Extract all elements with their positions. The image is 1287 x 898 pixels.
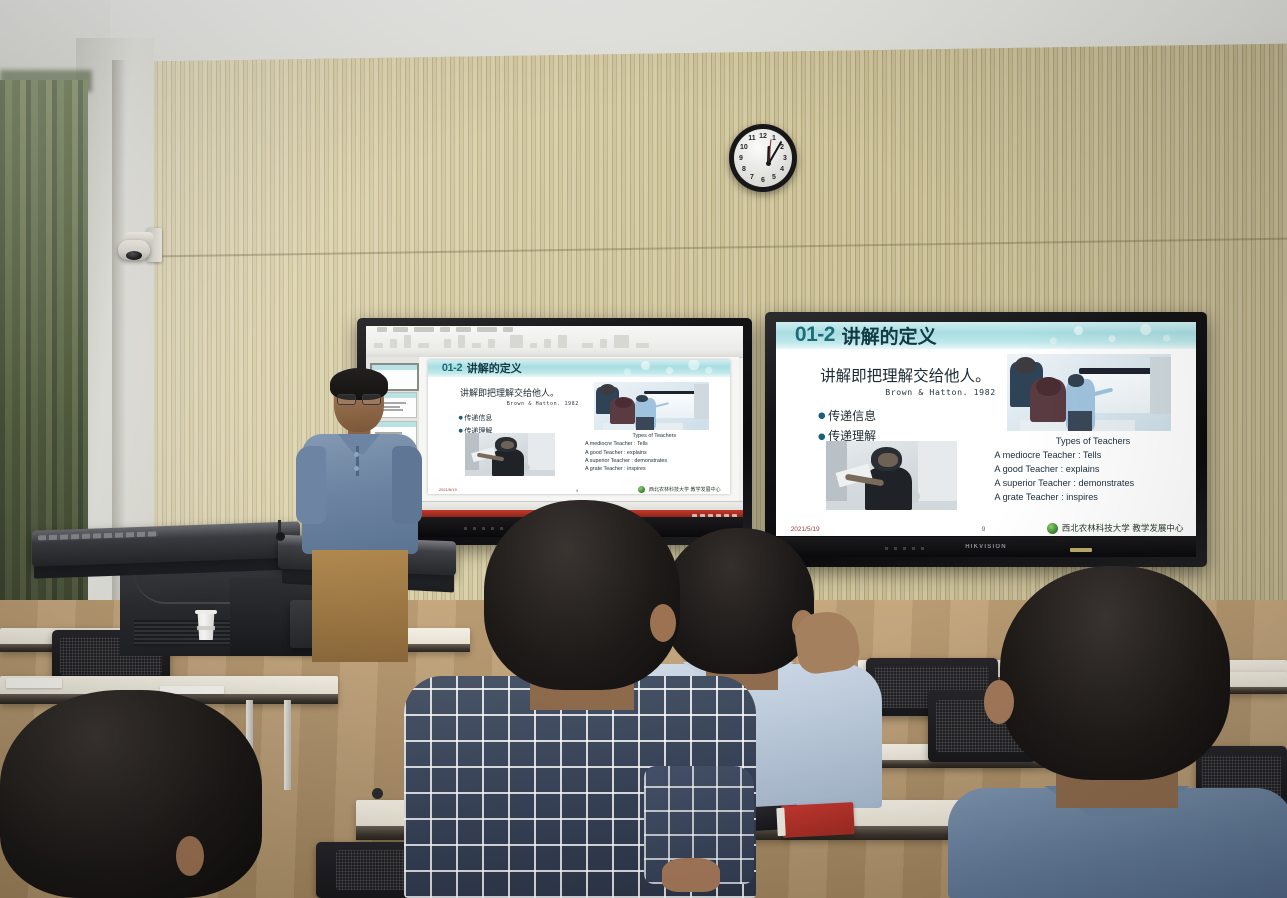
slide-types-title: Types of Teachers [585,432,724,440]
clock-face: 121234567891011 [734,129,792,187]
clock-numeral: 5 [768,174,780,181]
ribbon-command-button[interactable] [390,339,397,348]
slide-bullet-1: 传递信息 [458,413,492,423]
glasses-right-lens [362,394,381,405]
slide-header-band: 01-2 讲解的定义 [776,322,1196,349]
camera-dome [118,240,150,260]
photo-presenter-legs [1068,411,1093,431]
display-power-led [1070,548,1092,552]
wall-clock: 121234567891011 [729,124,797,192]
slide-footer-date: 2021/5/19 [439,487,457,492]
university-logo-icon [1047,523,1058,534]
right-display-brand-label: HIKVISION [965,544,1006,550]
ribbon-command-button[interactable] [472,343,481,348]
ribbon-command-button[interactable] [444,339,451,348]
slide-edit-canvas[interactable]: 01-2 讲解的定义 讲解即把理解交给他人。 Brown & Hatton. 1… [419,357,739,502]
lectern-vent-grille [134,620,234,646]
ribbon-command-button[interactable] [614,335,629,348]
slide-types-line: A grate Teacher : inspires [994,491,1191,505]
clock-numeral: 9 [735,155,747,162]
ribbon-tab[interactable] [456,327,471,332]
presenter-shirt-button [354,466,359,471]
slide-header-title: 讲解的定义 [467,360,522,376]
slide-photo-reading [826,441,956,510]
slide-types-line: A superior Teacher : demonstrates [994,477,1191,491]
audience-blue-ear [984,680,1014,724]
audience-check-head [484,500,680,690]
clock-numeral: 7 [746,174,758,181]
clock-numeral: 11 [746,135,758,142]
slide-body: 讲解即把理解交给他人。 Brown & Hatton. 1982 传递信息 传递… [428,377,729,495]
ribbon-tab[interactable] [477,327,497,332]
ribbon-command-button[interactable] [458,335,465,348]
slide-right-copy: 01-2 讲解的定义 讲解即把理解交给他人。 Brown & Hatton. 1… [776,322,1196,536]
ribbon-command-button[interactable] [418,343,429,348]
slide-header-number: 01-2 [428,362,462,374]
classroom-scene: 121234567891011 [0,0,1287,898]
slide-types-line: A good Teacher : explains [585,449,724,457]
slide-types-line: A superior Teacher : demonstrates [585,457,724,465]
ribbon-command-button[interactable] [558,335,567,348]
photo-reader-body [865,467,912,510]
clock-numeral: 10 [738,144,750,151]
slide-footer-logo: 西北农林科技大学 教学发展中心 [1047,522,1184,534]
ribbon-command-groups[interactable] [374,335,736,348]
photo-listener-two-head [1036,377,1061,395]
audience-blue-head [1000,566,1230,780]
left-display-screen[interactable]: 01-2 讲解的定义 讲解即把理解交给他人。 Brown & Hatton. 1… [366,326,743,519]
clock-center-pin [766,161,771,166]
clock-numeral: 6 [757,177,769,184]
ribbon-command-button[interactable] [530,343,537,348]
ribbon-command-button[interactable] [544,339,551,348]
audience-member-front-left [0,690,272,898]
slide-footer-logo: 西北农林科技大学 教学发展中心 [638,486,721,493]
ribbon-tab[interactable] [393,327,408,332]
slide-types-block: Types of Teachers A mediocre Teacher : T… [994,435,1191,505]
photo-presenter-head [1068,374,1084,386]
slide-main-line: 讲解即把理解交给他人。 [820,364,991,386]
slide-types-line: A mediocre Teacher : Tells [585,440,724,448]
photo-right-background [918,441,957,510]
ribbon-tab[interactable] [414,327,434,332]
camera-lens-icon [126,251,142,260]
audience-check-ear [650,604,676,642]
slide-footer-page: 9 [576,488,578,493]
right-display-screen[interactable]: 01-2 讲解的定义 讲解即把理解交给他人。 Brown & Hatton. 1… [776,322,1196,536]
slide-footer-page: 9 [982,526,986,533]
slide-header-title: 讲解的定义 [842,322,937,349]
dome-security-camera [118,226,162,270]
powerpoint-window[interactable]: 01-2 讲解的定义 讲解即把理解交给他人。 Brown & Hatton. 1… [366,326,743,519]
slide-citation: Brown & Hatton. 1982 [507,401,579,407]
slide-types-line: A grate Teacher : inspires [585,465,724,473]
audience-member-check-shirt [404,500,796,898]
slide-bullet-1: 传递信息 [818,407,876,424]
slide-canvas-page[interactable]: 01-2 讲解的定义 讲解即把理解交给他人。 Brown & Hatton. 1… [428,360,729,495]
slide-photo-whiteboard [594,382,708,429]
ribbon-command-button[interactable] [488,339,495,348]
clock-numeral: 4 [776,166,788,173]
paper-sheet [6,678,62,688]
ribbon-tab[interactable] [503,327,513,332]
slide-types-line: A mediocre Teacher : Tells [994,449,1191,463]
ribbon-tab[interactable] [377,327,387,332]
slide-types-title: Types of Teachers [994,435,1191,449]
slide-header-band: 01-2 讲解的定义 [428,360,729,377]
ribbon-command-button[interactable] [374,343,383,348]
desk-leg [284,700,291,790]
photo-right-panel [1150,357,1171,414]
clock-numeral: 3 [779,155,791,162]
coffee-cup-sleeve [197,626,215,630]
ribbon-command-button[interactable] [510,335,523,348]
audience-lightblue-raised-hand [792,608,862,676]
slide-types-block: Types of Teachers A mediocre Teacher : T… [585,432,724,474]
slide-left-copy: 01-2 讲解的定义 讲解即把理解交给他人。 Brown & Hatton. 1… [428,360,729,495]
powerpoint-ribbon[interactable] [366,326,743,358]
display-control-buttons[interactable] [885,547,925,550]
presenter-left-sleeve [296,446,326,524]
presenter-shirt-button [354,452,359,457]
glasses-left-lens [337,394,356,405]
thumbnail-header-band [372,365,416,370]
slide-footer: 2021/5/19 9 西北农林科技大学 教学发展中心 [428,479,729,494]
slide-photo-whiteboard [1007,354,1171,431]
photo-reader-face [878,453,898,467]
ribbon-tab[interactable] [440,327,450,332]
ribbon-tab-strip[interactable] [377,327,513,332]
university-logo-icon [638,486,645,493]
slide-header-number: 01-2 [776,323,835,347]
presenter-trousers [312,550,408,662]
lectern-knob[interactable] [276,532,285,541]
ribbon-command-button[interactable] [636,343,649,348]
slide-footer-org: 西北农林科技大学 教学发展中心 [1062,522,1184,534]
slide-photo-reading [465,433,555,475]
slide-body: 讲解即把理解交给他人。 Brown & Hatton. 1982 传递信息 传递… [776,349,1196,536]
desk-caster [372,788,383,799]
ribbon-command-button[interactable] [582,343,593,348]
audience-frontleft-head [0,690,262,898]
presenter-glasses-icon [337,394,381,403]
slide-main-line: 讲解即把理解交给他人。 [460,386,559,399]
slide-citation: Brown & Hatton. 1982 [885,387,996,397]
audience-check-hand [662,858,720,892]
presenter-placket [356,446,359,476]
slide-footer-org: 西北农林科技大学 教学发展中心 [649,486,721,493]
ribbon-command-button[interactable] [404,335,411,348]
ribbon-command-button[interactable] [600,339,607,348]
audience-member-blue-shirt [948,566,1287,898]
clock-numeral: 8 [738,166,750,173]
slide-types-line: A good Teacher : explains [994,463,1191,477]
coffee-cup-lid [195,610,217,614]
audience-frontleft-ear [176,836,204,876]
